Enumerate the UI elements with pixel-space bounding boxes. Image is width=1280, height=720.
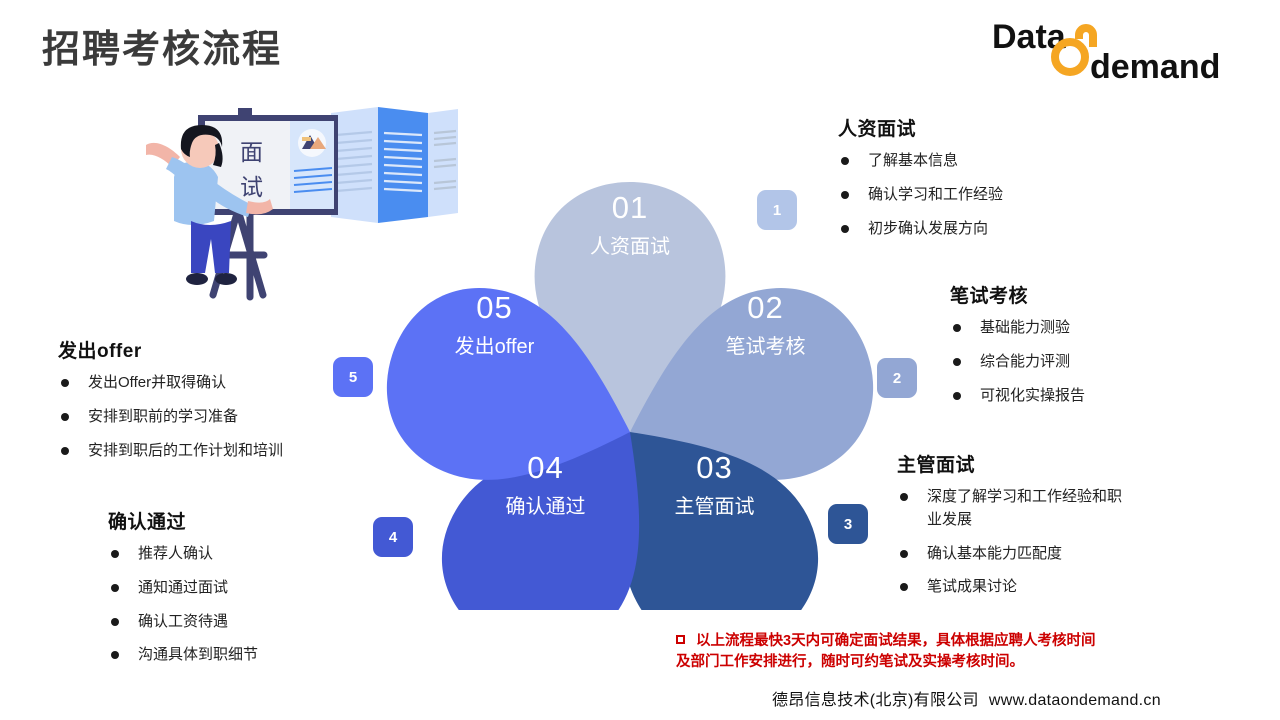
list-item-text: 通知通过面试 xyxy=(138,579,228,596)
block-list-hr-interview: 了解基本信息 确认学习和工作经验 初步确认发展方向 xyxy=(838,150,1138,240)
note-line-1: 以上流程最快3天内可确定面试结果，具体根据应聘人考核时间 xyxy=(696,633,1096,649)
block-list-written-test: 基础能力测验 综合能力评测 可视化实操报告 xyxy=(950,317,1200,407)
list-item-text: 了解基本信息 xyxy=(868,152,958,169)
bullet-dot-icon xyxy=(953,358,961,366)
list-item: 确认工资待遇 xyxy=(108,611,408,634)
block-title-hr-interview: 人资面试 xyxy=(838,114,1138,141)
text-block-manager-interview: 主管面试 深度了解学习和工作经验和职 业发展 确认基本能力匹配度 笔试成果讨论 xyxy=(897,450,1197,610)
bullet-dot-icon xyxy=(841,157,849,165)
text-block-send-offer: 发出offer 发出Offer并取得确认 安排到职前的学习准备 安排到职后的工作… xyxy=(58,336,388,473)
bullet-dot-icon xyxy=(111,550,119,558)
square-bullet-icon xyxy=(676,635,685,644)
logo-o-icon xyxy=(1055,42,1085,72)
list-item-text: 推荐人确认 xyxy=(138,545,213,562)
board-char-2: 试 xyxy=(240,175,263,201)
bullet-dot-icon xyxy=(61,413,69,421)
bullet-dot-icon xyxy=(111,651,119,659)
list-item-text: 综合能力评测 xyxy=(980,353,1070,370)
bullet-dot-icon xyxy=(900,493,908,501)
list-item-text: 深度了解学习和工作经验和职 xyxy=(927,488,1122,505)
list-item: 确认学习和工作经验 xyxy=(838,184,1138,207)
footer-url[interactable]: www.dataondemand.cn xyxy=(989,692,1161,709)
bullet-dot-icon xyxy=(61,447,69,455)
list-item-text: 确认学习和工作经验 xyxy=(868,186,1003,203)
list-item: 沟通具体到职细节 xyxy=(108,644,408,667)
step-badge-1[interactable]: 1 xyxy=(757,190,797,230)
block-title-written-test: 笔试考核 xyxy=(950,281,1200,308)
list-item-text: 确认基本能力匹配度 xyxy=(927,545,1062,562)
list-item: 发出Offer并取得确认 xyxy=(58,372,388,395)
bullet-dot-icon xyxy=(953,324,961,332)
block-title-manager-interview: 主管面试 xyxy=(897,450,1197,477)
list-item-text: 初步确认发展方向 xyxy=(868,220,988,237)
logo-text-demand: demand xyxy=(1090,48,1220,84)
bullet-dot-icon xyxy=(111,618,119,626)
flower-diagram: 01 人资面试 02 笔试考核 03 主管面试 04 确认通过 05 发出off… xyxy=(380,150,900,610)
bullet-dot-icon xyxy=(111,584,119,592)
note-line-2: 及部门工作安排进行，随时可约笔试及实操考核时间。 xyxy=(676,652,1236,673)
list-item-text: 确认工资待遇 xyxy=(138,613,228,630)
page-title: 招聘考核流程 xyxy=(42,18,282,73)
list-item: 综合能力评测 xyxy=(950,351,1200,374)
list-item-text: 沟通具体到职细节 xyxy=(138,646,258,663)
bullet-dot-icon xyxy=(900,550,908,558)
list-item-text: 笔试成果讨论 xyxy=(927,578,1017,595)
list-item-text: 发出Offer并取得确认 xyxy=(88,374,226,391)
brand-logo: Data demand xyxy=(984,12,1254,84)
list-item: 安排到职后的工作计划和培训 xyxy=(58,440,388,463)
list-item: 基础能力测验 xyxy=(950,317,1200,340)
list-item: 确认基本能力匹配度 xyxy=(897,543,1197,566)
list-item-text: 基础能力测验 xyxy=(980,319,1070,336)
block-title-confirm-pass: 确认通过 xyxy=(108,507,408,534)
block-title-send-offer: 发出offer xyxy=(58,336,388,363)
bullet-dot-icon xyxy=(841,191,849,199)
text-block-confirm-pass: 确认通过 推荐人确认 通知通过面试 确认工资待遇 沟通具体到职细节 xyxy=(108,507,408,678)
bullet-dot-icon xyxy=(900,583,908,591)
bullet-dot-icon xyxy=(61,379,69,387)
step-badge-2[interactable]: 2 xyxy=(877,358,917,398)
list-item-text-wrap: 业发展 xyxy=(927,509,1197,532)
bottom-note: 以上流程最快3天内可确定面试结果，具体根据应聘人考核时间 及部门工作安排进行，随… xyxy=(676,631,1236,674)
list-item-text: 可视化实操报告 xyxy=(980,387,1085,404)
block-list-send-offer: 发出Offer并取得确认 安排到职前的学习准备 安排到职后的工作计划和培训 xyxy=(58,372,388,462)
list-item: 了解基本信息 xyxy=(838,150,1138,173)
list-item: 初步确认发展方向 xyxy=(838,218,1138,241)
footer-company: 德昂信息技术(北京)有限公司 xyxy=(772,692,979,709)
list-item-text: 安排到职后的工作计划和培训 xyxy=(88,442,283,459)
list-item: 安排到职前的学习准备 xyxy=(58,406,388,429)
list-item-text: 安排到职前的学习准备 xyxy=(88,408,238,425)
list-item: 可视化实操报告 xyxy=(950,385,1200,408)
text-block-written-test: 笔试考核 基础能力测验 综合能力评测 可视化实操报告 xyxy=(950,281,1200,418)
board-char-1: 面 xyxy=(240,140,263,166)
block-list-manager-interview: 深度了解学习和工作经验和职 业发展 确认基本能力匹配度 笔试成果讨论 xyxy=(897,486,1197,599)
block-list-confirm-pass: 推荐人确认 通知通过面试 确认工资待遇 沟通具体到职细节 xyxy=(108,543,408,667)
bullet-dot-icon xyxy=(953,392,961,400)
footer: 德昂信息技术(北京)有限公司www.dataondemand.cn xyxy=(772,686,1161,710)
list-item: 推荐人确认 xyxy=(108,543,408,566)
slide-root: 招聘考核流程 Data demand xyxy=(0,0,1280,720)
step-badge-3[interactable]: 3 xyxy=(828,504,868,544)
list-item: 笔试成果讨论 xyxy=(897,576,1197,599)
list-item: 通知通过面试 xyxy=(108,577,408,600)
bullet-dot-icon xyxy=(841,225,849,233)
list-item: 深度了解学习和工作经验和职 业发展 xyxy=(897,486,1197,532)
text-block-hr-interview: 人资面试 了解基本信息 确认学习和工作经验 初步确认发展方向 xyxy=(838,114,1138,251)
